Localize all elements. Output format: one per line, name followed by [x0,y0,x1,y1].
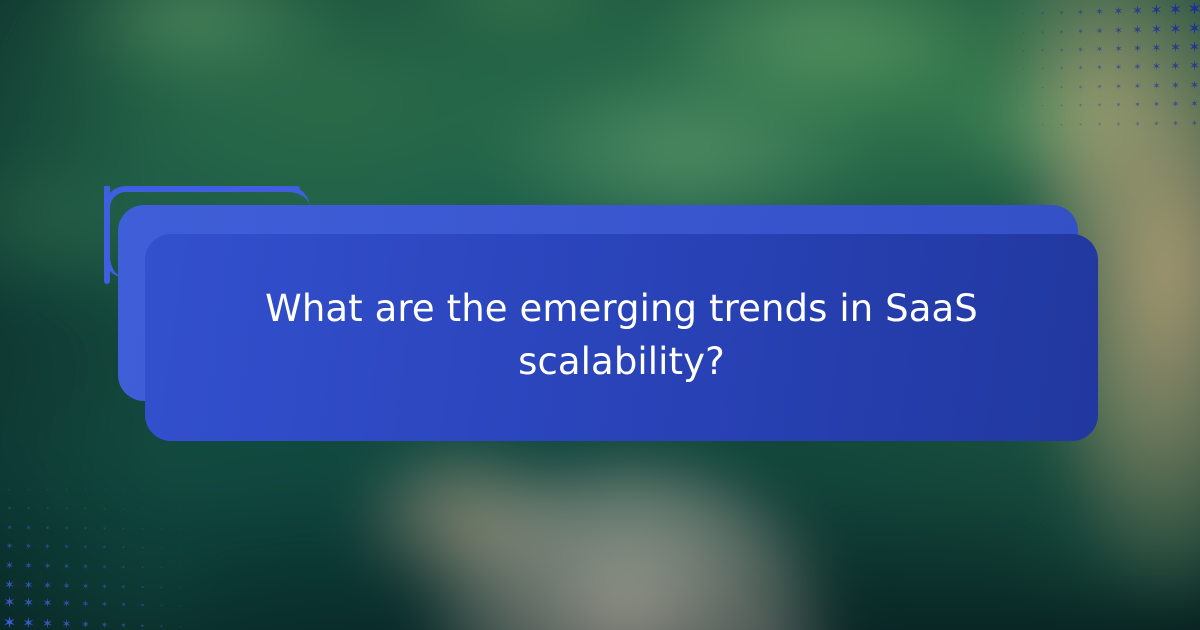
halftone-dot: ✶ [133,520,152,539]
halftone-dot-row: ✶✶✶✶✶✶✶✶✶✶ [0,537,186,556]
halftone-dot: ✶ [95,539,114,558]
halftone-dot: ✶ [76,538,95,557]
halftone-dot: ✶ [1147,21,1166,40]
halftone-dot: ✶ [1033,24,1052,43]
halftone-dot: ✶ [0,613,19,630]
halftone-dot: ✶ [76,481,95,500]
halftone-dot: ✶ [1071,3,1090,22]
halftone-dot: ✶ [1128,95,1147,114]
halftone-dot: ✶ [171,579,186,598]
halftone-dot: ✶ [1033,78,1052,97]
halftone-dot: ✶ [38,558,57,577]
halftone-dot: ✶ [152,481,171,500]
halftone-dot: ✶ [0,575,19,594]
halftone-dot: ✶ [1109,2,1128,21]
halftone-dot: ✶ [57,520,76,539]
halftone-dot-row: ✶✶✶✶✶✶✶✶✶✶ [1014,0,1200,19]
halftone-dot: ✶ [57,500,76,519]
halftone-dot: ✶ [1185,19,1200,38]
halftone-dot: ✶ [1052,115,1071,134]
halftone-dot: ✶ [1166,77,1185,96]
halftone-dot: ✶ [76,520,95,539]
halftone-dot-row: ✶✶✶✶✶✶✶✶✶✶ [1014,76,1200,95]
decorative-outline-cap [292,186,300,192]
halftone-dot: ✶ [1052,79,1071,98]
halftone-dot: ✶ [76,577,95,596]
halftone-dot: ✶ [152,539,171,558]
halftone-dot: ✶ [171,597,186,616]
halftone-dot: ✶ [114,596,133,615]
question-headline: What are the emerging trends in SaaS sca… [218,283,1026,388]
halftone-dot: ✶ [171,481,186,500]
halftone-dot: ✶ [133,559,152,578]
halftone-dot: ✶ [1033,5,1052,24]
halftone-dot: ✶ [1052,23,1071,42]
halftone-dot: ✶ [1128,39,1147,58]
halftone-dot-row: ✶✶✶✶✶✶✶✶✶✶ [0,594,186,613]
halftone-dot: ✶ [1109,59,1128,78]
halftone-dot: ✶ [1033,116,1052,134]
halftone-dot: ✶ [1090,96,1109,115]
halftone-dot: ✶ [1014,42,1033,61]
halftone-dot: ✶ [1147,95,1166,114]
halftone-dot: ✶ [1185,76,1200,95]
halftone-dot: ✶ [1147,114,1166,133]
halftone-dots-top-right: ✶✶✶✶✶✶✶✶✶✶✶✶✶✶✶✶✶✶✶✶✶✶✶✶✶✶✶✶✶✶✶✶✶✶✶✶✶✶✶✶… [1014,0,1200,134]
halftone-dot: ✶ [114,559,133,578]
halftone-dot: ✶ [0,538,19,557]
halftone-dot: ✶ [95,481,114,500]
halftone-dot: ✶ [95,520,114,539]
halftone-dot: ✶ [1185,38,1200,57]
halftone-dot: ✶ [19,557,38,576]
halftone-dot: ✶ [76,616,95,630]
halftone-dot: ✶ [76,557,95,576]
halftone-dot: ✶ [1090,40,1109,59]
halftone-dot: ✶ [1109,40,1128,59]
halftone-dot: ✶ [1166,0,1185,19]
halftone-dot: ✶ [1109,22,1128,41]
halftone-dot: ✶ [1185,114,1200,133]
halftone-dot: ✶ [95,617,114,630]
halftone-dot-row: ✶✶✶✶✶✶✶✶✶✶ [0,556,186,575]
halftone-dot: ✶ [1128,58,1147,77]
halftone-dot: ✶ [1185,95,1200,114]
halftone-dot: ✶ [1166,39,1185,58]
halftone-dot: ✶ [133,597,152,616]
halftone-dot: ✶ [152,618,171,630]
halftone-dot: ✶ [1052,42,1071,61]
halftone-dot: ✶ [114,539,133,558]
halftone-dot-row: ✶✶✶✶✶✶✶✶✶✶ [1014,114,1200,133]
halftone-dot: ✶ [57,481,76,500]
halftone-dot: ✶ [1147,39,1166,58]
halftone-dot: ✶ [0,556,19,575]
halftone-dot: ✶ [1185,133,1200,134]
halftone-dot: ✶ [114,519,133,538]
halftone-dot: ✶ [19,537,38,556]
halftone-dot: ✶ [1090,22,1109,41]
halftone-dot: ✶ [1090,3,1109,22]
halftone-dot: ✶ [95,595,114,614]
question-card: What are the emerging trends in SaaS sca… [145,234,1098,441]
halftone-dot: ✶ [1071,116,1090,134]
halftone-dot: ✶ [1090,116,1109,134]
halftone-dot: ✶ [171,559,186,578]
halftone-dot: ✶ [38,519,57,538]
halftone-dot: ✶ [95,499,114,518]
halftone-dot: ✶ [38,481,57,500]
halftone-dot-row: ✶✶✶✶✶✶✶✶✶✶ [1014,133,1200,134]
halftone-dot: ✶ [76,499,95,518]
halftone-dot: ✶ [133,579,152,598]
halftone-dot: ✶ [19,614,38,630]
halftone-dot: ✶ [19,594,38,613]
halftone-dots-bottom-left: ✶✶✶✶✶✶✶✶✶✶✶✶✶✶✶✶✶✶✶✶✶✶✶✶✶✶✶✶✶✶✶✶✶✶✶✶✶✶✶✶… [0,480,186,630]
halftone-dot: ✶ [1033,59,1052,78]
halftone-dot: ✶ [76,595,95,614]
halftone-dot: ✶ [38,594,57,613]
halftone-dot: ✶ [38,537,57,556]
halftone-dot: ✶ [152,500,171,519]
halftone-dot: ✶ [133,538,152,557]
halftone-dot: ✶ [1185,57,1200,76]
halftone-dot: ✶ [1166,95,1185,114]
halftone-dot: ✶ [95,577,114,596]
halftone-dot: ✶ [1071,133,1090,134]
halftone-dot: ✶ [133,617,152,630]
halftone-dot: ✶ [1014,97,1033,116]
halftone-dot: ✶ [0,518,19,537]
halftone-dot: ✶ [1071,40,1090,59]
halftone-dot: ✶ [171,520,186,539]
halftone-dot: ✶ [1128,21,1147,40]
social-card-canvas: ✶✶✶✶✶✶✶✶✶✶✶✶✶✶✶✶✶✶✶✶✶✶✶✶✶✶✶✶✶✶✶✶✶✶✶✶✶✶✶✶… [0,0,1200,630]
halftone-dot: ✶ [1109,96,1128,115]
halftone-dot: ✶ [152,520,171,539]
halftone-dot-row: ✶✶✶✶✶✶✶✶✶✶ [1014,57,1200,76]
halftone-dot: ✶ [152,558,171,577]
halftone-dot: ✶ [1147,57,1166,76]
halftone-dot: ✶ [1071,22,1090,41]
halftone-dot: ✶ [1166,20,1185,39]
halftone-dot: ✶ [19,481,38,500]
halftone-dot: ✶ [0,480,19,499]
halftone-dot: ✶ [0,594,19,613]
halftone-dot: ✶ [152,578,171,597]
halftone-dot: ✶ [1147,77,1166,96]
halftone-dot: ✶ [1166,57,1185,76]
halftone-dot-row: ✶✶✶✶✶✶✶✶✶✶ [0,499,186,518]
halftone-dot: ✶ [114,500,133,519]
halftone-dot: ✶ [95,558,114,577]
halftone-dot: ✶ [1109,116,1128,134]
halftone-dot: ✶ [19,576,38,595]
halftone-dot: ✶ [114,578,133,597]
halftone-dot: ✶ [1090,78,1109,97]
halftone-dot-row: ✶✶✶✶✶✶✶✶✶✶ [0,480,186,499]
halftone-dot: ✶ [1185,0,1200,19]
halftone-dot: ✶ [114,481,133,500]
halftone-dot: ✶ [1071,97,1090,116]
halftone-dot: ✶ [171,618,186,630]
halftone-dot: ✶ [57,594,76,613]
halftone-dot: ✶ [57,538,76,557]
halftone-dot: ✶ [133,481,152,500]
halftone-dot-row: ✶✶✶✶✶✶✶✶✶✶ [1014,95,1200,114]
halftone-dot: ✶ [171,500,186,519]
halftone-dot: ✶ [1033,97,1052,116]
halftone-dot: ✶ [1166,114,1185,133]
halftone-dot: ✶ [1109,77,1128,96]
halftone-dot: ✶ [1014,5,1033,24]
halftone-dot: ✶ [1128,2,1147,21]
halftone-dot-row: ✶✶✶✶✶✶✶✶✶✶ [0,575,186,594]
halftone-dot: ✶ [0,500,19,519]
halftone-dot: ✶ [1014,24,1033,43]
halftone-dot: ✶ [114,616,133,630]
halftone-dot: ✶ [1147,1,1166,20]
halftone-dot: ✶ [1014,116,1033,134]
halftone-dot: ✶ [1052,60,1071,79]
halftone-dot: ✶ [38,615,57,630]
halftone-dot: ✶ [57,615,76,630]
halftone-dot: ✶ [1166,133,1185,134]
halftone-dot: ✶ [1052,4,1071,23]
halftone-dot: ✶ [171,539,186,558]
halftone-dot: ✶ [19,500,38,519]
halftone-dot: ✶ [1090,58,1109,77]
halftone-dot-row: ✶✶✶✶✶✶✶✶✶✶ [0,518,186,537]
halftone-dot: ✶ [1071,79,1090,98]
halftone-dot: ✶ [1052,97,1071,116]
halftone-dot: ✶ [1014,79,1033,98]
halftone-dot: ✶ [57,557,76,576]
halftone-dot: ✶ [1071,59,1090,78]
halftone-dot: ✶ [152,597,171,616]
halftone-dot: ✶ [1128,115,1147,134]
halftone-dot: ✶ [19,519,38,538]
halftone-dot: ✶ [133,500,152,519]
halftone-dot: ✶ [38,500,57,519]
halftone-dot: ✶ [1014,60,1033,79]
